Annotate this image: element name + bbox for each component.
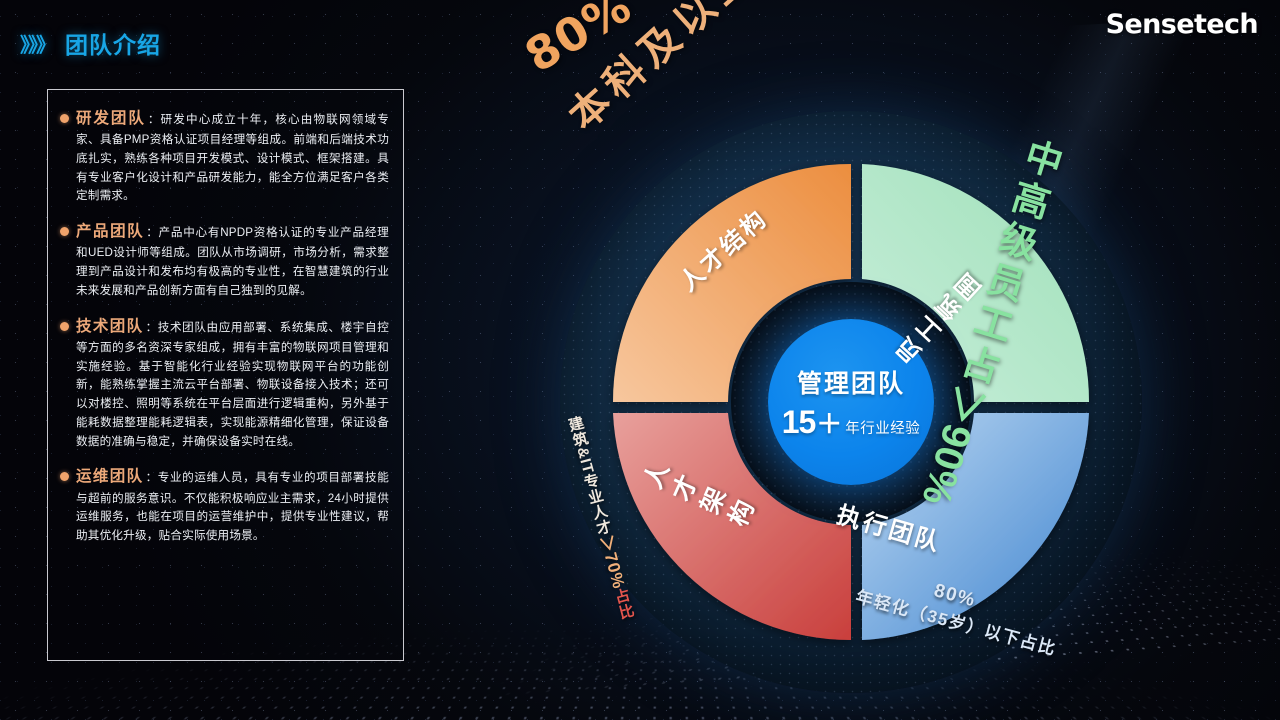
team-description-panel: 研发团队：研发中心成立十年，核心由物联网领域专家、具备PMP资格认证项目经理等组… — [47, 89, 404, 661]
center-plus-sign: ＋ — [816, 404, 842, 441]
center-title: 管理团队 — [797, 364, 905, 400]
list-item: 技术团队：技术团队由应用部署、系统集成、楼宇自控等方面的多名资深专家组成，拥有丰… — [60, 314, 389, 452]
center-years-number: 15 — [782, 404, 816, 441]
slide-root: 》》》 团队介绍 Sensetech 研发团队：研发中心成立十年，核心由物联网领… — [0, 0, 1280, 720]
page-title: 》》》 团队介绍 — [20, 26, 161, 60]
bullet-dot-icon — [60, 227, 69, 236]
paragraph-heading: 产品团队 — [76, 223, 144, 240]
list-item: 运维团队：专业的运维人员，具有专业的项目部署技能与超前的服务意识。不仅能积极响应… — [60, 464, 389, 545]
paragraph-heading: 运维团队 — [76, 468, 144, 485]
paragraph-heading: 技术团队 — [76, 318, 144, 335]
center-years-unit: 年行业经验 — [845, 417, 920, 438]
paragraph-heading: 研发团队 — [76, 110, 146, 127]
list-item: 研发团队：研发中心成立十年，核心由物联网领域专家、具备PMP资格认证项目经理等组… — [60, 106, 389, 206]
paragraph-text: 产品团队：产品中心有NPDP资格认证的专业产品经理和UED设计师等组成。团队从市… — [76, 219, 389, 300]
callout-professional-highlight: 占比 — [611, 587, 636, 622]
center-subtitle: 15 ＋ 年行业经验 — [782, 404, 921, 441]
team-structure-donut-chart: 管理团队 15 ＋ 年行业经验 人才结构 员工氛围 执行团队 人才架构 80% … — [506, 57, 1196, 720]
paragraph-text: 运维团队：专业的运维人员，具有专业的项目部署技能与超前的服务意识。不仅能积极响应… — [76, 464, 389, 545]
list-item: 产品团队：产品中心有NPDP资格认证的专业产品经理和UED设计师等组成。团队从市… — [60, 219, 389, 300]
chevron-right-icon: 》》》 — [20, 29, 54, 58]
paragraph-text: 技术团队：技术团队由应用部署、系统集成、楼宇自控等方面的多名资深专家组成，拥有丰… — [76, 314, 389, 452]
bullet-dot-icon — [60, 114, 69, 123]
bullet-dot-icon — [60, 322, 69, 331]
paragraph-body: ：技术团队由应用部署、系统集成、楼宇自控等方面的多名资深专家组成，拥有丰富的物联… — [76, 321, 389, 448]
page-title-label: 团队介绍 — [65, 26, 161, 60]
brand-logo: Sensetech — [1106, 9, 1258, 40]
paragraph-text: 研发团队：研发中心成立十年，核心由物联网领域专家、具备PMP资格认证项目经理等组… — [76, 106, 389, 206]
bullet-dot-icon — [60, 472, 69, 481]
